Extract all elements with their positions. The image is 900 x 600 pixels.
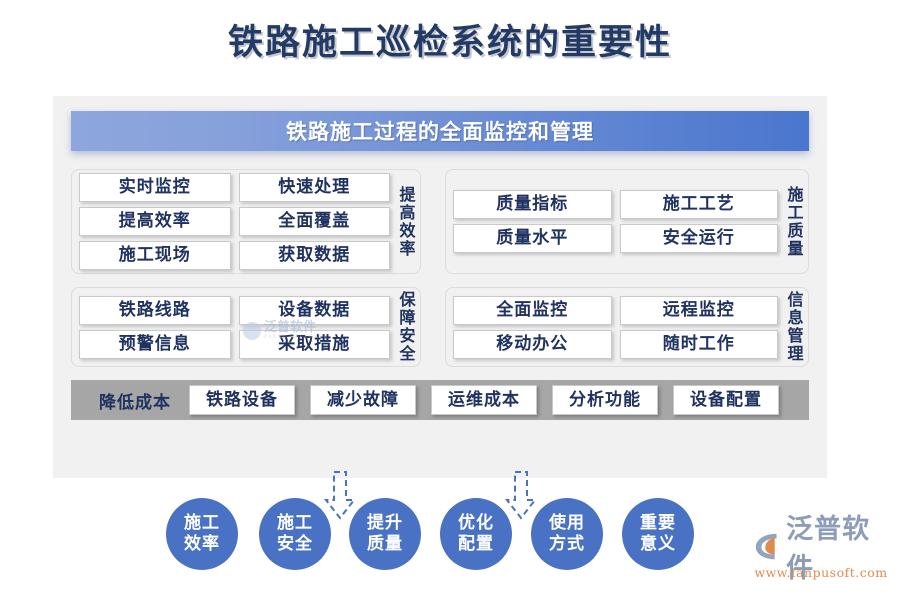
dashed-arrow-down-icon — [501, 470, 541, 522]
circle-line-1: 优化 — [458, 513, 494, 534]
circle-line-2: 效率 — [184, 534, 220, 555]
circle-line-1: 使用 — [549, 513, 585, 534]
panel-vertical-label: 信息管理 — [782, 288, 808, 366]
outcome-circle[interactable]: 优化 配置 — [440, 498, 512, 570]
cell-item[interactable]: 预警信息 — [79, 330, 231, 359]
page-title: 铁路施工巡检系统的重要性 — [0, 14, 900, 65]
panel-improve-efficiency: 实时监控 提高效率 施工现场 快速处理 全面覆盖 获取数据 提高效率 — [71, 169, 421, 274]
cell-item[interactable]: 施工现场 — [79, 241, 231, 270]
cell-item[interactable]: 提高效率 — [79, 207, 231, 236]
logo-row: 泛普软件 — [752, 528, 892, 564]
cell-item[interactable]: 移动办公 — [453, 330, 612, 359]
cell-item[interactable]: 实时监控 — [79, 173, 231, 202]
circle-line-2: 配置 — [458, 534, 494, 555]
cell-item[interactable]: 快速处理 — [239, 173, 391, 202]
circle-line-1: 提升 — [367, 513, 403, 534]
circle-line-2: 安全 — [277, 534, 313, 555]
panel-column: 快速处理 全面覆盖 获取数据 — [239, 173, 391, 270]
panel-vertical-label: 提高效率 — [394, 170, 420, 273]
panel-information-management: 全面监控 移动办公 远程监控 随时工作 信息管理 — [445, 287, 809, 367]
circle-line-2: 方式 — [549, 534, 585, 555]
circle-line-1: 重要 — [640, 513, 676, 534]
panel-vertical-label: 保障安全 — [394, 288, 420, 366]
cost-reduction-bar: 降低成本 铁路设备 减少故障 运维成本 分析功能 设备配置 — [71, 380, 809, 420]
cost-item[interactable]: 运维成本 — [431, 385, 537, 415]
cost-item[interactable]: 铁路设备 — [189, 385, 295, 415]
outcome-circle[interactable]: 提升 质量 — [349, 498, 421, 570]
cell-item[interactable]: 设备数据 — [239, 296, 391, 325]
circle-line-2: 质量 — [367, 534, 403, 555]
cell-item[interactable]: 铁路线路 — [79, 296, 231, 325]
cost-item[interactable]: 分析功能 — [552, 385, 658, 415]
cell-item[interactable]: 随时工作 — [620, 330, 779, 359]
circle-line-1: 施工 — [277, 513, 313, 534]
diagram-container: 铁路施工过程的全面监控和管理 实时监控 提高效率 施工现场 快速处理 全面覆盖 … — [53, 96, 827, 478]
circle-line-2: 意义 — [640, 534, 676, 555]
panel-column: 设备数据 采取措施 — [239, 296, 391, 359]
outcome-circle[interactable]: 重要 意义 — [622, 498, 694, 570]
cell-item[interactable]: 质量水平 — [453, 224, 612, 253]
panel-columns: 实时监控 提高效率 施工现场 快速处理 全面覆盖 获取数据 — [72, 170, 394, 273]
panel-column: 远程监控 随时工作 — [620, 296, 779, 359]
banner-header: 铁路施工过程的全面监控和管理 — [71, 111, 809, 151]
logo-url: www.fanpusoft.com — [752, 565, 890, 580]
outcome-circle[interactable]: 施工 效率 — [166, 498, 238, 570]
panel-construction-quality: 质量指标 质量水平 施工工艺 安全运行 施工质量 — [445, 169, 809, 274]
panel-column: 铁路线路 预警信息 — [79, 296, 231, 359]
panel-columns: 全面监控 移动办公 远程监控 随时工作 — [446, 288, 782, 366]
cell-item[interactable]: 获取数据 — [239, 241, 391, 270]
brand-logo: 泛普软件 www.fanpusoft.com — [752, 528, 892, 584]
cost-item[interactable]: 减少故障 — [310, 385, 416, 415]
cell-item[interactable]: 采取措施 — [239, 330, 391, 359]
panel-ensure-safety: 铁路线路 预警信息 设备数据 采取措施 保障安全 — [71, 287, 421, 367]
panel-column: 全面监控 移动办公 — [453, 296, 612, 359]
cost-item[interactable]: 设备配置 — [673, 385, 779, 415]
cell-item[interactable]: 质量指标 — [453, 190, 612, 219]
cell-item[interactable]: 施工工艺 — [620, 190, 779, 219]
panel-column: 实时监控 提高效率 施工现场 — [79, 173, 231, 270]
circle-line-1: 施工 — [184, 513, 220, 534]
fanpu-logo-icon — [752, 529, 784, 563]
cell-item[interactable]: 安全运行 — [620, 224, 779, 253]
outcome-circle[interactable]: 使用 方式 — [531, 498, 603, 570]
cell-item[interactable]: 全面覆盖 — [239, 207, 391, 236]
cost-bar-label: 降低成本 — [81, 388, 189, 413]
cell-item[interactable]: 全面监控 — [453, 296, 612, 325]
panel-column: 施工工艺 安全运行 — [620, 190, 779, 253]
panel-vertical-label: 施工质量 — [782, 170, 808, 273]
panel-column: 质量指标 质量水平 — [453, 190, 612, 253]
outcome-circle[interactable]: 施工 安全 — [259, 498, 331, 570]
cell-item[interactable]: 远程监控 — [620, 296, 779, 325]
panel-columns: 铁路线路 预警信息 设备数据 采取措施 — [72, 288, 394, 366]
panel-columns: 质量指标 质量水平 施工工艺 安全运行 — [446, 170, 782, 273]
